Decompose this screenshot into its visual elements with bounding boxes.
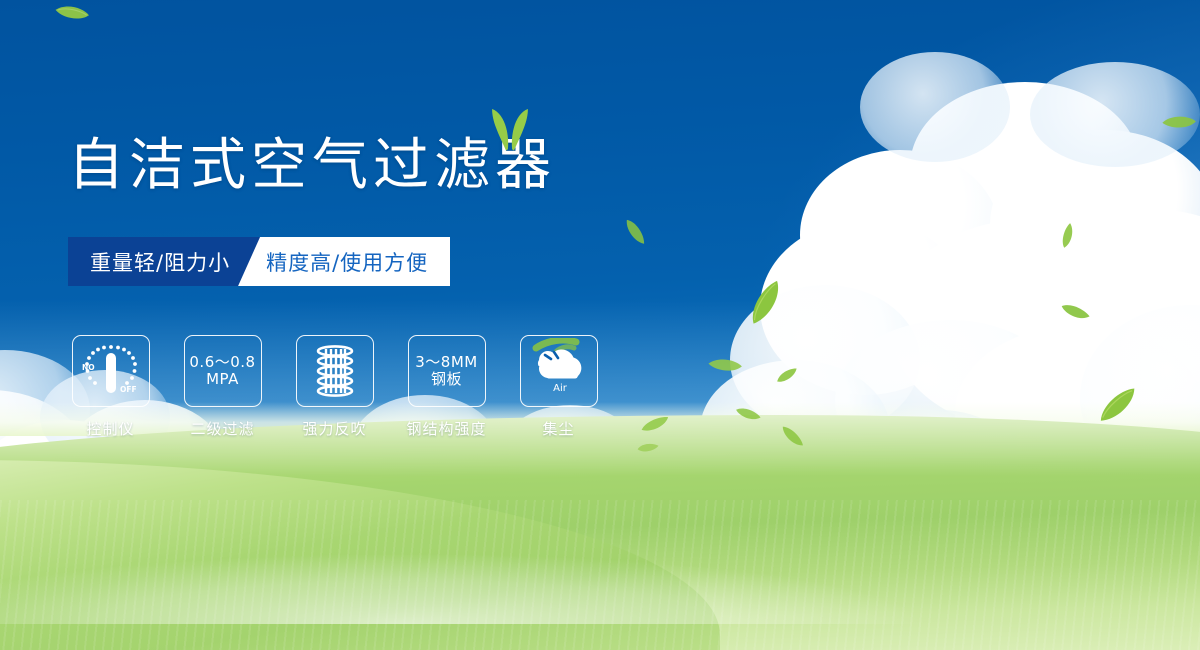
- feature-label: 控制仪: [86, 418, 134, 439]
- subtitle-right: 精度高/使用方便: [238, 237, 450, 286]
- feature-box: Air: [520, 335, 598, 407]
- feature-list: NO OFF 控制仪 0.6〜0.8 MPA 二级过滤: [68, 335, 601, 439]
- air-label: Air: [553, 383, 568, 394]
- cloud-air-icon: Air: [524, 338, 596, 402]
- subtitle-bar: 重量轻/阻力小 精度高/使用方便: [68, 237, 450, 286]
- feature-item-controller[interactable]: NO OFF 控制仪: [68, 335, 153, 439]
- headline-block: 自洁式空气过滤器: [68, 138, 556, 194]
- gauge-dial-icon: NO OFF: [76, 340, 146, 402]
- grass-sheen: [0, 500, 1200, 650]
- feature-label: 集尘: [542, 418, 574, 439]
- feature-label: 强力反吹: [302, 418, 366, 439]
- sprout-leaves-icon: [473, 103, 543, 153]
- feature-item-pressure[interactable]: 0.6〜0.8 MPA 二级过滤: [180, 335, 265, 439]
- feature-box: 3〜8MM 钢板: [408, 335, 486, 407]
- dial-label-no: NO: [82, 363, 95, 372]
- steel-line1: 3〜8MM: [415, 354, 477, 371]
- feature-box: [296, 335, 374, 407]
- product-banner: 自洁式空气过滤器 重量轻/阻力小 精度高/使用方便: [0, 0, 1200, 650]
- feature-label: 二级过滤: [190, 418, 254, 439]
- pressure-line2: MPA: [189, 371, 255, 388]
- pressure-line1: 0.6〜0.8: [189, 354, 255, 371]
- steel-line2: 钢板: [415, 371, 477, 388]
- feature-item-backblow[interactable]: 强力反吹: [292, 335, 377, 439]
- feature-item-dust[interactable]: Air 集尘: [516, 335, 601, 439]
- filter-cartridge-icon: [307, 342, 363, 400]
- feature-item-steel[interactable]: 3〜8MM 钢板 钢结构强度: [404, 335, 489, 439]
- dial-label-off: OFF: [120, 385, 137, 394]
- feature-label: 钢结构强度: [406, 418, 486, 439]
- feature-box: NO OFF: [72, 335, 150, 407]
- pressure-text-icon: 0.6〜0.8 MPA: [189, 354, 255, 388]
- subtitle-left: 重量轻/阻力小: [68, 237, 260, 286]
- feature-box: 0.6〜0.8 MPA: [184, 335, 262, 407]
- steel-plate-text-icon: 3〜8MM 钢板: [415, 354, 477, 388]
